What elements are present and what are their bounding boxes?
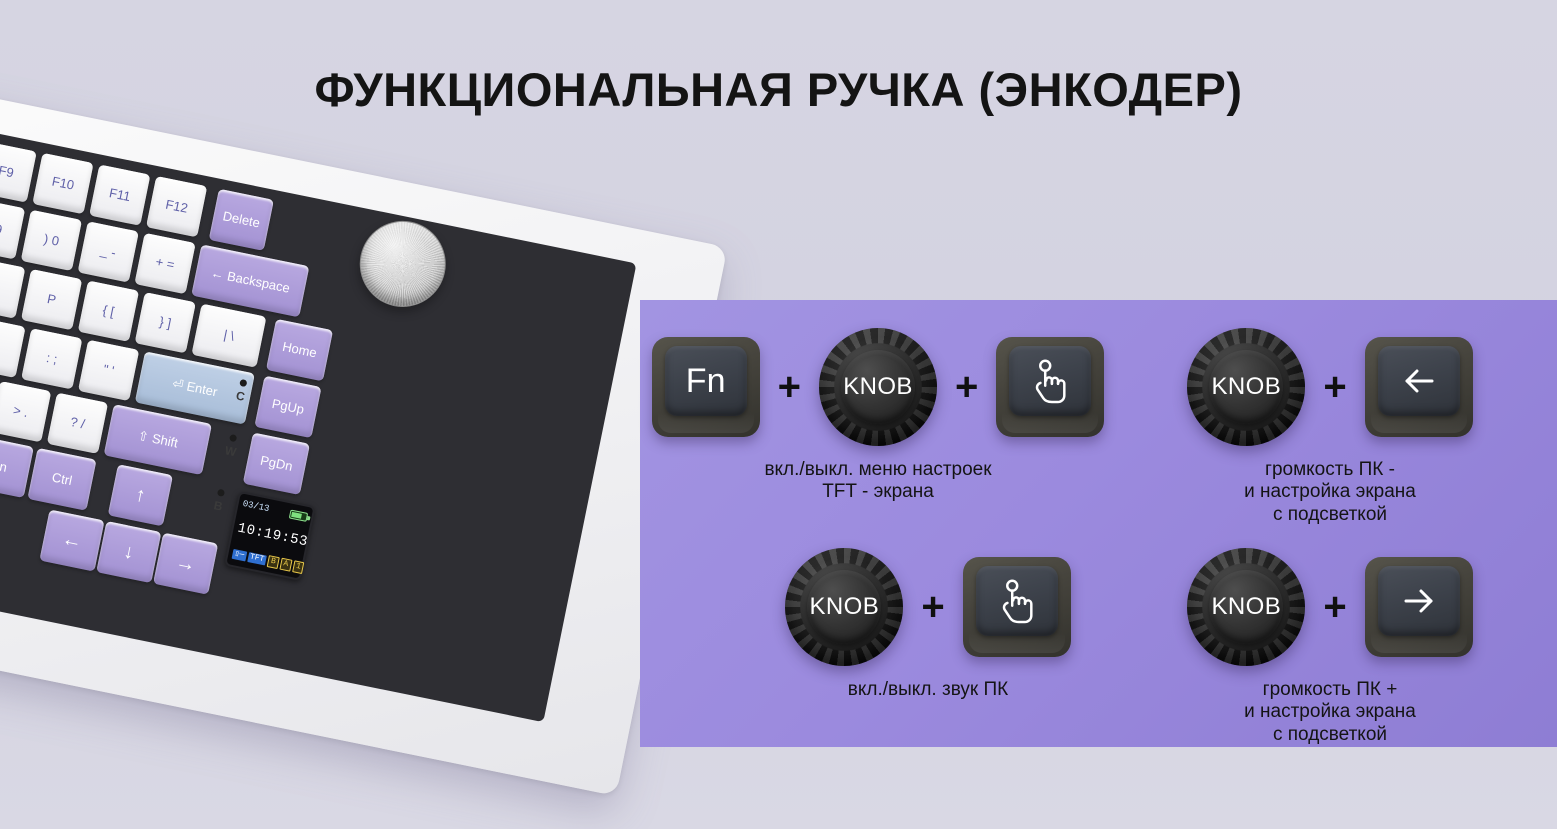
tft-status-bar: 03/13: [242, 499, 309, 522]
arrow-right-icon: [1397, 579, 1441, 623]
combo-tft-settings-menu: Fn + KNOB +: [668, 328, 1088, 504]
key-period[interactable]: > .: [0, 381, 51, 442]
led-dot-w: [229, 434, 237, 442]
keyboard-body: F8 F9 F10 F11 F12 Delete * 8 ( 9 ) 0 _ -…: [0, 84, 728, 796]
key-backslash[interactable]: | \: [191, 304, 266, 368]
key-9[interactable]: ( 9: [0, 198, 25, 259]
key-f9[interactable]: F9: [0, 141, 37, 202]
key-o[interactable]: O: [0, 257, 25, 318]
key-pgdn[interactable]: PgDn: [243, 432, 310, 495]
key-0[interactable]: ) 0: [21, 210, 82, 271]
led-dot-b: [217, 489, 225, 497]
keycap-face: [1378, 566, 1460, 636]
knob-control[interactable]: KNOB: [819, 328, 937, 446]
combo-row: KNOB +: [785, 548, 1070, 666]
key-quote[interactable]: " ': [78, 340, 139, 401]
fn-key-label: Fn: [686, 364, 726, 398]
tft-tag: TFT: [247, 552, 267, 565]
fn-key[interactable]: Fn: [652, 337, 760, 437]
plus-sign: +: [778, 367, 801, 407]
plus-sign: +: [1323, 367, 1346, 407]
key-l[interactable]: L: [0, 317, 26, 378]
arrow-left-key[interactable]: [1365, 337, 1473, 437]
combo-volume-down: KNOB + громкость ПК - и настройка экрана…: [1150, 328, 1510, 526]
plus-sign: +: [955, 367, 978, 407]
knob-control[interactable]: KNOB: [1187, 328, 1305, 446]
combo-volume-up: KNOB + громкость ПК + и настройка экрана…: [1150, 548, 1510, 746]
key-delete[interactable]: Delete: [209, 189, 274, 251]
page-title: ФУНКЦИОНАЛЬНАЯ РУЧКА (ЭНКОДЕР): [0, 62, 1557, 117]
key-f10[interactable]: F10: [32, 153, 93, 214]
combo-caption: вкл./выкл. звук ПК: [848, 679, 1008, 701]
knob-label: KNOB: [1212, 373, 1282, 401]
key-bracket-right[interactable]: } ]: [135, 292, 196, 353]
key-f11[interactable]: F11: [89, 164, 150, 225]
tft-time: 10:19:53: [236, 521, 304, 550]
key-arrow-down[interactable]: ↓: [96, 521, 161, 583]
key-bracket-left[interactable]: { [: [78, 281, 139, 342]
keycap-face: [1378, 346, 1460, 416]
combo-caption: громкость ПК + и настройка экрана с подс…: [1244, 679, 1416, 746]
tft-date: 03/13: [242, 499, 270, 514]
press-key[interactable]: [996, 337, 1104, 437]
tft-badge-b: B: [267, 555, 280, 569]
tft-badge-a: A: [279, 558, 292, 572]
knob-control[interactable]: KNOB: [1187, 548, 1305, 666]
key-arrow-left[interactable]: ←: [39, 509, 104, 571]
combo-row: KNOB +: [1187, 328, 1472, 446]
key-minus[interactable]: _ -: [78, 221, 139, 282]
plus-sign: +: [921, 587, 944, 627]
knob-label: KNOB: [810, 593, 880, 621]
key-home[interactable]: Home: [266, 319, 333, 382]
press-key[interactable]: [963, 557, 1071, 657]
combo-row: Fn + KNOB +: [652, 328, 1105, 446]
keycap-rows: F8 F9 F10 F11 F12 Delete * 8 ( 9 ) 0 _ -…: [0, 84, 728, 796]
key-p[interactable]: P: [21, 269, 82, 330]
combo-grid: Fn + KNOB +: [640, 300, 1557, 747]
keycap-face: Fn: [665, 346, 747, 416]
key-equal[interactable]: + =: [134, 233, 195, 294]
key-f12[interactable]: F12: [146, 176, 207, 237]
instructions-panel: Fn + KNOB +: [640, 300, 1557, 747]
led-dot-c: [239, 379, 247, 387]
keycap-face: [976, 566, 1058, 636]
key-ctrl[interactable]: Ctrl: [27, 448, 96, 511]
key-pgup[interactable]: PgUp: [254, 376, 321, 439]
combo-caption: громкость ПК - и настройка экрана с подс…: [1244, 459, 1416, 526]
key-semicolon[interactable]: : ;: [21, 328, 82, 389]
knob-label: KNOB: [843, 373, 913, 401]
link-icon: ▯─: [232, 549, 247, 562]
keycap-face: [1009, 346, 1091, 416]
knob-label: KNOB: [1212, 593, 1282, 621]
combo-mute-toggle: KNOB + вкл./выкл. звук ПК: [768, 548, 1088, 701]
arrow-right-key[interactable]: [1365, 557, 1473, 657]
key-arrow-right[interactable]: →: [153, 533, 218, 595]
key-slash[interactable]: ? /: [47, 393, 108, 454]
battery-icon: [289, 509, 308, 521]
press-hand-icon: [1029, 358, 1071, 404]
keyboard-photo: F8 F9 F10 F11 F12 Delete * 8 ( 9 ) 0 _ -…: [0, 150, 680, 810]
knob-control[interactable]: KNOB: [785, 548, 903, 666]
press-hand-icon: [996, 578, 1038, 624]
plus-sign: +: [1323, 587, 1346, 627]
key-arrow-up[interactable]: ↑: [108, 464, 173, 526]
arrow-left-icon: [1397, 359, 1441, 403]
combo-caption: вкл./выкл. меню настроек TFT - экрана: [764, 459, 991, 504]
combo-row: KNOB +: [1187, 548, 1472, 666]
tft-screen[interactable]: 03/13 10:19:53 ▯─ TFT B A 1: [224, 491, 316, 581]
